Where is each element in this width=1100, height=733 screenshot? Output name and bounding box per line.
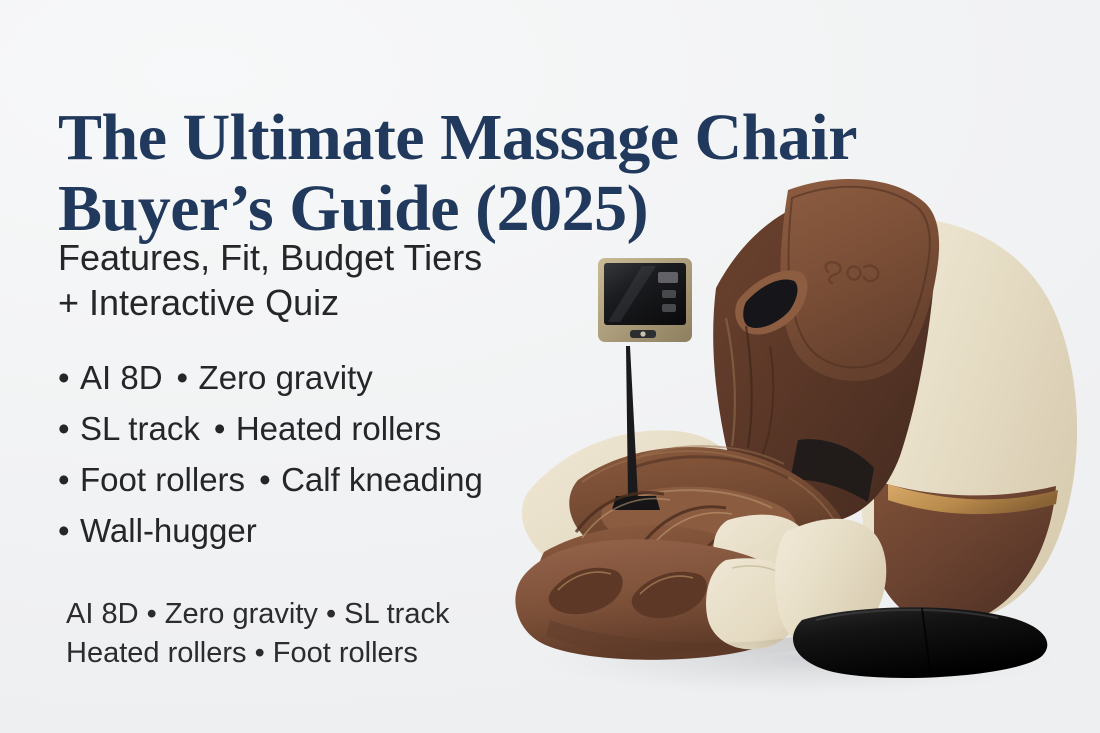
bullet-icon: • bbox=[58, 505, 80, 556]
page-title: The Ultimate Massage Chair Buyer’s Guide… bbox=[58, 106, 1038, 240]
bullet-icon: • bbox=[214, 403, 236, 454]
chair-base bbox=[793, 607, 1047, 678]
feature-left: •SL track bbox=[58, 403, 200, 454]
feature-label: SL track bbox=[80, 410, 200, 447]
feature-right: •Calf kneading bbox=[259, 461, 483, 498]
feature-row: •AI 8D•Zero gravity bbox=[58, 352, 618, 403]
bullet-icon: • bbox=[58, 352, 80, 403]
subtitle: Features, Fit, Budget Tiers + Interactiv… bbox=[58, 236, 618, 325]
footer-line-2: Heated rollers • Foot rollers bbox=[66, 634, 586, 673]
feature-left: •Wall-hugger bbox=[58, 505, 257, 556]
bullet-icon: • bbox=[58, 403, 80, 454]
title-line-1: The Ultimate Massage Chair bbox=[58, 106, 1038, 169]
feature-label: Calf kneading bbox=[281, 461, 483, 498]
footer-line-1: AI 8D • Zero gravity • SL track bbox=[66, 598, 449, 630]
feature-row: •Wall-hugger bbox=[58, 505, 618, 556]
subtitle-line-1: Features, Fit, Budget Tiers bbox=[58, 237, 482, 278]
screen-button-1[interactable] bbox=[658, 272, 678, 283]
feature-row: •SL track•Heated rollers bbox=[58, 403, 618, 454]
feature-right: •Heated rollers bbox=[214, 410, 441, 447]
feature-left: •Foot rollers bbox=[58, 454, 245, 505]
bullet-icon: • bbox=[58, 454, 80, 505]
feature-label: Foot rollers bbox=[80, 461, 245, 498]
feature-label: Heated rollers bbox=[236, 410, 441, 447]
feature-label: AI 8D bbox=[80, 359, 163, 396]
text-column: The Ultimate Massage Chair Buyer’s Guide… bbox=[58, 0, 658, 733]
footer-tag-line: AI 8D • Zero gravity • SL track Heated r… bbox=[66, 595, 586, 674]
screen-button-3[interactable] bbox=[662, 304, 676, 312]
feature-bullet-list: •AI 8D•Zero gravity •SL track•Heated rol… bbox=[58, 352, 618, 557]
bullet-icon: • bbox=[177, 352, 199, 403]
feature-label: Wall-hugger bbox=[80, 512, 257, 549]
feature-label: Zero gravity bbox=[199, 359, 373, 396]
screen-button-2[interactable] bbox=[662, 290, 676, 298]
subtitle-line-2: + Interactive Quiz bbox=[58, 281, 618, 326]
feature-right: •Zero gravity bbox=[177, 359, 373, 396]
feature-left: •AI 8D bbox=[58, 352, 163, 403]
title-line-2: Buyer’s Guide (2025) bbox=[58, 177, 1038, 240]
poster-canvas: The Ultimate Massage Chair Buyer’s Guide… bbox=[0, 0, 1100, 733]
feature-row: •Foot rollers•Calf kneading bbox=[58, 454, 618, 505]
bullet-icon: • bbox=[259, 454, 281, 505]
